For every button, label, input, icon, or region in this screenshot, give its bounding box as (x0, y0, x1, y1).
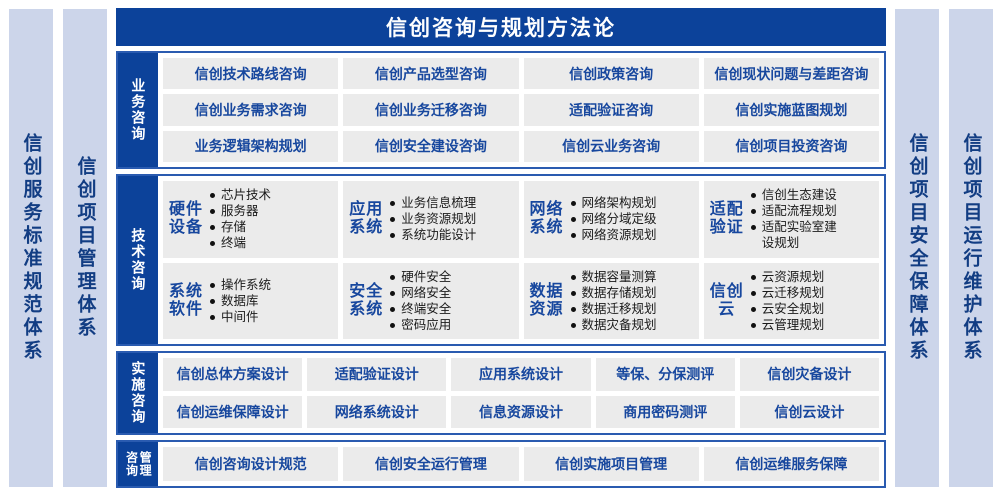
tech-card-title: 应用 系统 (349, 201, 383, 237)
pillar-project-management: 信创项目管理体系 (62, 8, 108, 488)
chip[interactable]: 信创云设计 (740, 396, 879, 429)
band-label-text: 业务咨询 (131, 78, 146, 142)
chip[interactable]: 信创运维保障设计 (163, 396, 302, 429)
tech-card-list: 硬件安全 网络安全 终端安全 密码应用 (389, 269, 512, 333)
tech-list-item: 网络资源规划 (570, 227, 693, 243)
chip[interactable]: 信创产品选型咨询 (343, 58, 518, 89)
tech-card-title: 安全 系统 (349, 283, 383, 319)
band-label-business: 业务咨询 (118, 53, 158, 167)
band-body-management: 信创咨询设计规范 信创安全运行管理 信创实施项目管理 信创运维服务保障 (158, 442, 884, 486)
tech-list-item: 密码应用 (389, 317, 512, 333)
center-column: 信创咨询与规划方法论 业务咨询 信创技术路线咨询 信创产品选型咨询 信创政策咨询… (116, 8, 886, 488)
diagram-title-banner: 信创咨询与规划方法论 (116, 8, 886, 46)
tech-row: 硬件 设备 芯片技术 服务器 存储 终端 应用 系统 业务信息梳理 业务资源规划 (163, 181, 879, 258)
chip-row: 业务逻辑架构规划 信创安全建设咨询 信创云业务咨询 信创项目投资咨询 (163, 131, 879, 162)
pillar-service-standard: 信创服务标准规范体系 (8, 8, 54, 488)
band-label-text-col2: 管理 (139, 451, 152, 477)
tech-list-item: 网络分域定级 (570, 211, 693, 227)
chip[interactable]: 信息资源设计 (451, 396, 590, 429)
tech-list-item: 中间件 (209, 309, 332, 325)
band-body-business: 信创技术路线咨询 信创产品选型咨询 信创政策咨询 信创现状问题与差距咨询 信创业… (158, 53, 884, 167)
chip-row: 信创咨询设计规范 信创安全运行管理 信创实施项目管理 信创运维服务保障 (163, 447, 879, 481)
band-body-technical: 硬件 设备 芯片技术 服务器 存储 终端 应用 系统 业务信息梳理 业务资源规划 (158, 176, 884, 344)
chip[interactable]: 商用密码测评 (596, 396, 735, 429)
tech-list-item: 数据迁移规划 (570, 301, 693, 317)
tech-list-item-continued: 设规划 (750, 235, 873, 251)
chip[interactable]: 信创业务需求咨询 (163, 94, 338, 125)
tech-card-list: 业务信息梳理 业务资源规划 系统功能设计 (389, 195, 512, 243)
tech-list-item: 云管理规划 (750, 317, 873, 333)
tech-list-item: 业务资源规划 (389, 211, 512, 227)
tech-list-item: 数据存储规划 (570, 285, 693, 301)
chip[interactable]: 网络系统设计 (307, 396, 446, 429)
chip[interactable]: 信创实施蓝图规划 (704, 94, 879, 125)
tech-list-item: 适配实验室建 (750, 219, 873, 235)
tech-list-item: 硬件安全 (389, 269, 512, 285)
tech-card-list: 操作系统 数据库 中间件 (209, 277, 332, 325)
tech-list-item: 云安全规划 (750, 301, 873, 317)
chip[interactable]: 信创实施项目管理 (524, 447, 699, 481)
tech-card-list: 信创生态建设 适配流程规划 适配实验室建 设规划 (750, 187, 873, 251)
pillar-label: 信创项目管理体系 (76, 156, 95, 340)
tech-card-system-software[interactable]: 系统 软件 操作系统 数据库 中间件 (163, 263, 338, 340)
tech-list-item: 数据库 (209, 293, 332, 309)
chip-row: 信创技术路线咨询 信创产品选型咨询 信创政策咨询 信创现状问题与差距咨询 (163, 58, 879, 89)
tech-list-item: 网络架构规划 (570, 195, 693, 211)
band-business-consulting: 业务咨询 信创技术路线咨询 信创产品选型咨询 信创政策咨询 信创现状问题与差距咨… (116, 51, 886, 169)
chip[interactable]: 等保、分保测评 (596, 358, 735, 391)
band-label-implementation: 实施咨询 (118, 353, 158, 433)
chip[interactable]: 业务逻辑架构规划 (163, 131, 338, 162)
chip[interactable]: 信创咨询设计规范 (163, 447, 338, 481)
band-body-implementation: 信创总体方案设计 适配验证设计 应用系统设计 等保、分保测评 信创灾备设计 信创… (158, 353, 884, 433)
tech-card-title: 信创 云 (710, 283, 744, 319)
tech-list-item: 信创生态建设 (750, 187, 873, 203)
chip[interactable]: 信创安全运行管理 (343, 447, 518, 481)
pillar-project-operation: 信创项目运行维护体系 (948, 8, 994, 488)
pillar-label: 信创项目运行维护体系 (962, 133, 981, 363)
tech-card-list: 云资源规划 云迁移规划 云安全规划 云管理规划 (750, 269, 873, 333)
tech-card-application[interactable]: 应用 系统 业务信息梳理 业务资源规划 系统功能设计 (343, 181, 518, 258)
pillar-project-security: 信创项目安全保障体系 (894, 8, 940, 488)
tech-card-title: 数据 资源 (530, 283, 564, 319)
band-implementation-consulting: 实施咨询 信创总体方案设计 适配验证设计 应用系统设计 等保、分保测评 信创灾备… (116, 351, 886, 435)
band-label-text: 技术咨询 (131, 228, 146, 292)
chip[interactable]: 信创业务迁移咨询 (343, 94, 518, 125)
tech-list-item: 芯片技术 (209, 187, 332, 203)
chip[interactable]: 信创现状问题与差距咨询 (704, 58, 879, 89)
tech-list-item: 适配流程规划 (750, 203, 873, 219)
tech-card-security[interactable]: 安全 系统 硬件安全 网络安全 终端安全 密码应用 (343, 263, 518, 340)
chip[interactable]: 适配验证咨询 (524, 94, 699, 125)
tech-card-hardware[interactable]: 硬件 设备 芯片技术 服务器 存储 终端 (163, 181, 338, 258)
chip[interactable]: 信创技术路线咨询 (163, 58, 338, 89)
tech-card-list: 网络架构规划 网络分域定级 网络资源规划 (570, 195, 693, 243)
band-label-text-col1: 咨询 (125, 451, 138, 477)
band-technical-consulting: 技术咨询 硬件 设备 芯片技术 服务器 存储 终端 应用 系统 (116, 174, 886, 346)
tech-list-item: 网络安全 (389, 285, 512, 301)
chip-row: 信创运维保障设计 网络系统设计 信息资源设计 商用密码测评 信创云设计 (163, 396, 879, 429)
chip[interactable]: 信创安全建设咨询 (343, 131, 518, 162)
tech-card-title: 硬件 设备 (169, 201, 203, 237)
tech-list-item: 数据容量测算 (570, 269, 693, 285)
tech-card-network[interactable]: 网络 系统 网络架构规划 网络分域定级 网络资源规划 (524, 181, 699, 258)
chip-row: 信创业务需求咨询 信创业务迁移咨询 适配验证咨询 信创实施蓝图规划 (163, 94, 879, 125)
tech-list-item: 服务器 (209, 203, 332, 219)
tech-card-title: 适配 验证 (710, 201, 744, 237)
band-label-management: 咨询 管理 (118, 442, 158, 486)
tech-card-list: 数据容量测算 数据存储规划 数据迁移规划 数据灾备规划 (570, 269, 693, 333)
tech-card-list: 芯片技术 服务器 存储 终端 (209, 187, 332, 251)
chip-row: 信创总体方案设计 适配验证设计 应用系统设计 等保、分保测评 信创灾备设计 (163, 358, 879, 391)
tech-list-item: 终端安全 (389, 301, 512, 317)
tech-card-data-resource[interactable]: 数据 资源 数据容量测算 数据存储规划 数据迁移规划 数据灾备规划 (524, 263, 699, 340)
tech-list-item: 终端 (209, 235, 332, 251)
tech-list-item: 云资源规划 (750, 269, 873, 285)
tech-list-item: 业务信息梳理 (389, 195, 512, 211)
tech-card-adaptation[interactable]: 适配 验证 信创生态建设 适配流程规划 适配实验室建 设规划 (704, 181, 879, 258)
tech-card-cloud[interactable]: 信创 云 云资源规划 云迁移规划 云安全规划 云管理规划 (704, 263, 879, 340)
chip[interactable]: 信创总体方案设计 (163, 358, 302, 391)
diagram-title: 信创咨询与规划方法论 (386, 12, 616, 42)
chip[interactable]: 信创项目投资咨询 (704, 131, 879, 162)
tech-row: 系统 软件 操作系统 数据库 中间件 安全 系统 硬件安全 网络安全 终端安全 (163, 263, 879, 340)
chip[interactable]: 应用系统设计 (451, 358, 590, 391)
band-consulting-management: 咨询 管理 信创咨询设计规范 信创安全运行管理 信创实施项目管理 信创运维服务保… (116, 440, 886, 488)
chip[interactable]: 信创灾备设计 (740, 358, 879, 391)
tech-card-title: 系统 软件 (169, 283, 203, 319)
chip[interactable]: 信创云业务咨询 (524, 131, 699, 162)
pillar-label: 信创项目安全保障体系 (908, 133, 927, 363)
tech-list-item: 云迁移规划 (750, 285, 873, 301)
tech-list-item: 系统功能设计 (389, 227, 512, 243)
diagram-root: 信创服务标准规范体系 信创项目管理体系 信创咨询与规划方法论 业务咨询 信创技术… (0, 0, 1000, 496)
band-label-text: 实施咨询 (131, 361, 146, 425)
tech-list-item: 数据灾备规划 (570, 317, 693, 333)
tech-list-item: 操作系统 (209, 277, 332, 293)
chip[interactable]: 信创运维服务保障 (704, 447, 879, 481)
pillar-label: 信创服务标准规范体系 (22, 133, 41, 363)
tech-list-item: 存储 (209, 219, 332, 235)
chip[interactable]: 适配验证设计 (307, 358, 446, 391)
chip[interactable]: 信创政策咨询 (524, 58, 699, 89)
tech-card-title: 网络 系统 (530, 201, 564, 237)
band-label-technical: 技术咨询 (118, 176, 158, 344)
